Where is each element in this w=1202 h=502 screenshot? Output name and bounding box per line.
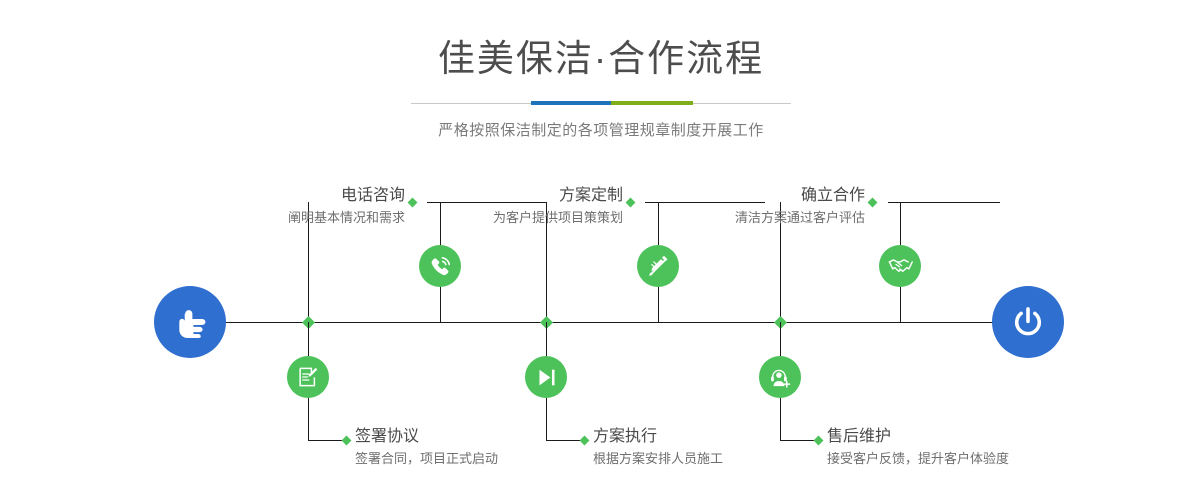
step-icon-5[interactable]	[879, 245, 921, 287]
step-desc-6: 接受客户反馈，提升客户体验度	[827, 449, 1009, 468]
phone-call-icon	[428, 254, 453, 279]
step-title-5: 确立合作	[682, 186, 865, 206]
step-label-1: 电话咨询 阐明基本情况和需求	[237, 186, 405, 227]
step-title-1: 电话咨询	[237, 186, 405, 206]
step-label-2: 签署协议 签署合同，项目正式启动	[355, 427, 498, 468]
title-divider	[411, 101, 791, 105]
label-marker-4	[580, 436, 590, 446]
timeline-axis	[190, 322, 1030, 323]
hand-pointing-icon	[171, 303, 209, 341]
power-icon	[1009, 303, 1047, 341]
page-subtitle: 严格按照保洁制定的各项管理规章制度开展工作	[0, 119, 1202, 140]
step-desc-3: 为客户提供项目策策划	[440, 208, 623, 227]
divider-segment-green	[611, 101, 693, 105]
connector-horizontal-5	[888, 202, 1000, 203]
customer-support-add-icon	[768, 365, 793, 390]
step-desc-2: 签署合同，项目正式启动	[355, 449, 498, 468]
play-skip-icon	[534, 365, 559, 390]
step-icon-2[interactable]	[287, 356, 329, 398]
flow-diagram-canvas: 佳美保洁·合作流程 严格按照保洁制定的各项管理规章制度开展工作	[0, 0, 1202, 502]
document-edit-icon	[296, 365, 320, 389]
label-marker-1	[408, 198, 418, 208]
step-icon-4[interactable]	[525, 356, 567, 398]
step-label-5: 确立合作 清洁方案通过客户评估	[682, 186, 865, 227]
step-title-2: 签署协议	[355, 427, 498, 447]
label-marker-5	[868, 198, 878, 208]
step-title-3: 方案定制	[440, 186, 623, 206]
step-label-3: 方案定制 为客户提供项目策策划	[440, 186, 623, 227]
step-title-6: 售后维护	[827, 427, 1009, 447]
header: 佳美保洁·合作流程 严格按照保洁制定的各项管理规章制度开展工作	[0, 0, 1202, 140]
step-desc-5: 清洁方案通过客户评估	[682, 208, 865, 227]
step-desc-1: 阐明基本情况和需求	[237, 208, 405, 227]
step-title-4: 方案执行	[593, 427, 723, 447]
page-title: 佳美保洁·合作流程	[0, 40, 1202, 77]
flow-end-node[interactable]	[992, 286, 1064, 358]
step-icon-6[interactable]	[759, 356, 801, 398]
step-label-6: 售后维护 接受客户反馈，提升客户体验度	[827, 427, 1009, 468]
divider-segment-blue	[531, 101, 611, 105]
label-marker-2	[342, 436, 352, 446]
label-marker-3	[626, 198, 636, 208]
label-marker-6	[814, 436, 824, 446]
step-icon-3[interactable]	[637, 245, 679, 287]
pencil-ruler-icon	[646, 254, 671, 279]
step-label-4: 方案执行 根据方案安排人员施工	[593, 427, 723, 468]
flow-start-node[interactable]	[154, 286, 226, 358]
handshake-icon	[887, 253, 913, 279]
step-desc-4: 根据方案安排人员施工	[593, 449, 723, 468]
step-icon-1[interactable]	[419, 245, 461, 287]
